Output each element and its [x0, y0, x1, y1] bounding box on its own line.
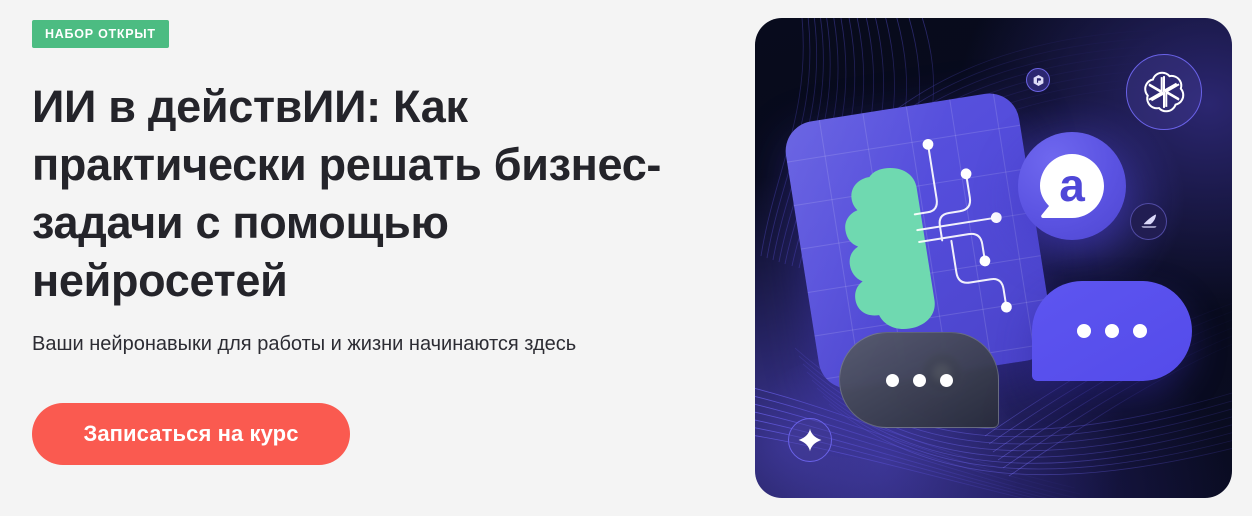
enroll-button[interactable]: Записаться на курс [32, 403, 350, 465]
hero-text-column: НАБОР ОТКРЫТ ИИ в действИИ: Как практиче… [32, 0, 732, 516]
sparkle-star-icon [788, 418, 832, 462]
alice-a-logo-icon: a [1018, 132, 1126, 240]
chat-dot [1133, 324, 1147, 338]
hero-subtitle: Ваши нейронавыки для работы и жизни начи… [32, 330, 722, 358]
chat-dot [1077, 324, 1091, 338]
hero-section: НАБОР ОТКРЫТ ИИ в действИИ: Как практиче… [0, 0, 1252, 516]
svg-text:a: a [1059, 159, 1085, 211]
openai-logo-icon [1126, 54, 1202, 130]
status-badge: НАБОР ОТКРЫТ [32, 20, 169, 48]
brain-shape [836, 164, 938, 336]
hero-illustration: a [755, 18, 1232, 498]
sail-badge-icon [1130, 203, 1167, 240]
chat-dot [940, 374, 953, 387]
chat-dot [886, 374, 899, 387]
chat-dot [1105, 324, 1119, 338]
cube-badge-icon [1026, 68, 1050, 92]
chat-bubble-dark-icon [839, 332, 999, 428]
circuit-nodes [922, 129, 1017, 321]
chat-bubble-purple-icon [1032, 281, 1192, 381]
chat-dot [913, 374, 926, 387]
page-title: ИИ в действИИ: Как практически решать би… [32, 78, 712, 310]
